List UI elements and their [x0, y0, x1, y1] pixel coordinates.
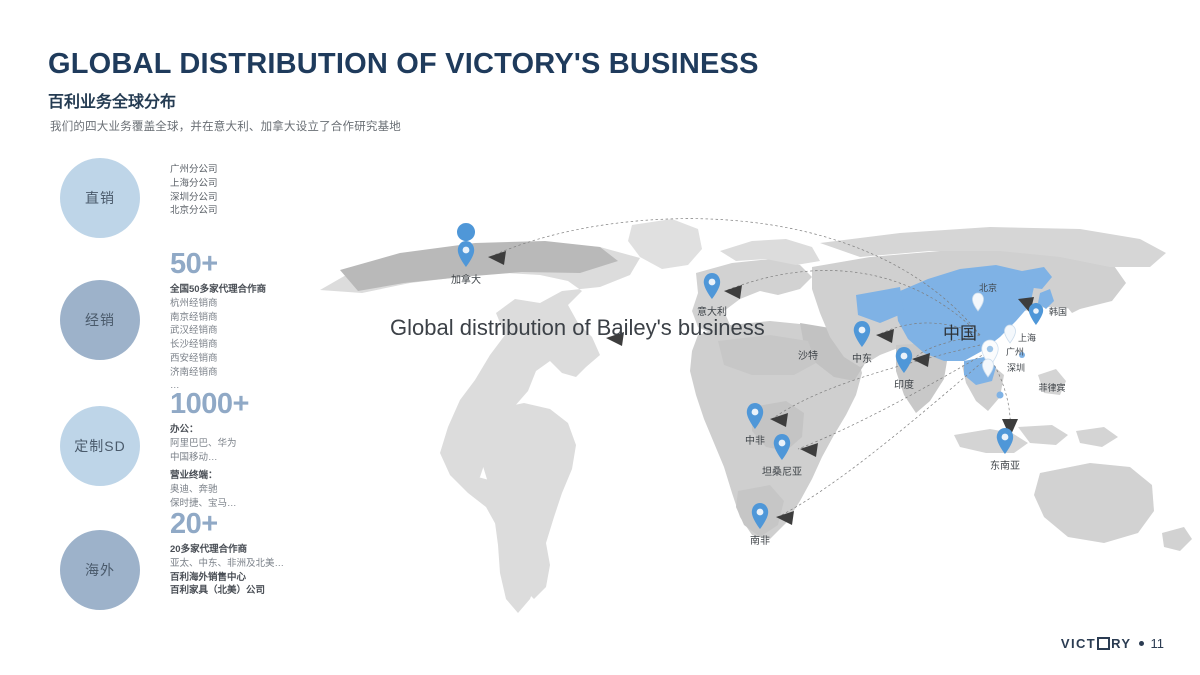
segment-item: 深圳分公司	[170, 191, 218, 205]
map-overlay-title: Global distribution of Bailey's business	[390, 315, 765, 341]
map-label-beijing: 北京	[979, 281, 997, 294]
map-label-south-africa: 南非	[750, 532, 770, 547]
map-label-india: 印度	[894, 376, 914, 391]
brand-square-o-icon	[1097, 637, 1110, 650]
segment-item: 西安经销商	[170, 352, 266, 366]
segment-circle-direct-sales[interactable]: 直销	[60, 158, 140, 238]
map-label-italy: 意大利	[697, 303, 727, 318]
segment-lead: 20多家代理合作商	[170, 543, 284, 557]
segment-circle-custom-sd[interactable]: 定制SD	[60, 406, 140, 486]
map-label-guangzhou: 广州	[1006, 345, 1024, 358]
hainan-dot	[997, 392, 1004, 399]
segment-custom-sd: 定制SD 1000+ 办公： 阿里巴巴、华为 中国移动… 营业终端： 奥迪、奔驰…	[60, 390, 290, 510]
brand-logo: VICTRY	[1061, 636, 1132, 651]
segment-circle-label: 直销	[85, 188, 115, 208]
segment-item-bold: 百利家具（北美）公司	[170, 584, 284, 598]
footer: VICTRY 11	[1061, 636, 1164, 651]
segment-item: 亚太、中东、非洲及北美…	[170, 557, 284, 571]
segment-lead: 全国50多家代理合作商	[170, 283, 266, 297]
map-label-middle-east: 中东	[852, 350, 872, 365]
segment-item: 奥迪、奔驰	[170, 483, 249, 497]
segment-metric: 20+	[170, 510, 284, 539]
segment-item: 上海分公司	[170, 177, 218, 191]
segment-item: 武汉经销商	[170, 324, 266, 338]
segment-item: 南京经销商	[170, 311, 266, 325]
segment-metric: 50+	[170, 250, 266, 279]
page-number: 11	[1151, 636, 1165, 651]
segment-item: 北京分公司	[170, 204, 218, 218]
map-label-korea: 韩国	[1049, 305, 1067, 318]
segment-circle-distribution[interactable]: 经销	[60, 280, 140, 360]
segment-circle-label: 经销	[85, 310, 115, 330]
map-label-shenzhen: 深圳	[1007, 361, 1025, 374]
map-label-tanzania: 坦桑尼亚	[762, 463, 802, 478]
map-label-central-africa: 中非	[745, 432, 765, 447]
map-label-china: 中国	[943, 319, 977, 344]
segment-item: 杭州经销商	[170, 297, 266, 311]
brand-text-part1: VICT	[1061, 636, 1096, 651]
segment-item: 济南经销商	[170, 366, 266, 380]
segment-item: 广州分公司	[170, 163, 218, 177]
segment-overseas: 海外 20+ 20多家代理合作商 亚太、中东、非洲及北美… 百利海外销售中心 百…	[60, 510, 290, 630]
brand-text-part2: RY	[1111, 636, 1131, 651]
world-map-svg	[300, 195, 1200, 625]
segment-distribution: 经销 50+ 全国50多家代理合作商 杭州经销商 南京经销商 武汉经销商 长沙经…	[60, 250, 290, 380]
map-label-shanghai: 上海	[1018, 331, 1036, 344]
segment-circle-label: 定制SD	[74, 436, 125, 456]
segment-circle-overseas[interactable]: 海外	[60, 530, 140, 610]
map-label-philippines: 菲律宾	[1038, 381, 1065, 394]
world-map[interactable]: Global distribution of Bailey's business…	[300, 195, 1200, 625]
page-description: 我们的四大业务覆盖全球，并在意大利、加拿大设立了合作研究基地	[50, 118, 401, 134]
map-label-canada: 加拿大	[451, 271, 481, 286]
segment-lead-secondary: 营业终端：	[170, 469, 249, 483]
segment-item: 中国移动…	[170, 451, 249, 465]
slide-root: GLOBAL DISTRIBUTION OF VICTORY'S BUSINES…	[0, 0, 1200, 675]
map-label-saudi: 沙特	[798, 347, 818, 362]
segment-item: 长沙经销商	[170, 338, 266, 352]
segment-item-bold: 百利海外销售中心	[170, 571, 284, 585]
segment-lead: 办公：	[170, 423, 249, 437]
segment-item: 阿里巴巴、华为	[170, 437, 249, 451]
segment-metric: 1000+	[170, 390, 249, 419]
segment-circle-label: 海外	[85, 560, 115, 580]
footer-separator-dot	[1139, 641, 1144, 646]
page-title: GLOBAL DISTRIBUTION OF VICTORY'S BUSINES…	[48, 48, 759, 81]
page-subtitle-cn: 百利业务全球分布	[48, 88, 176, 112]
map-label-southeast-asia: 东南亚	[990, 457, 1020, 472]
